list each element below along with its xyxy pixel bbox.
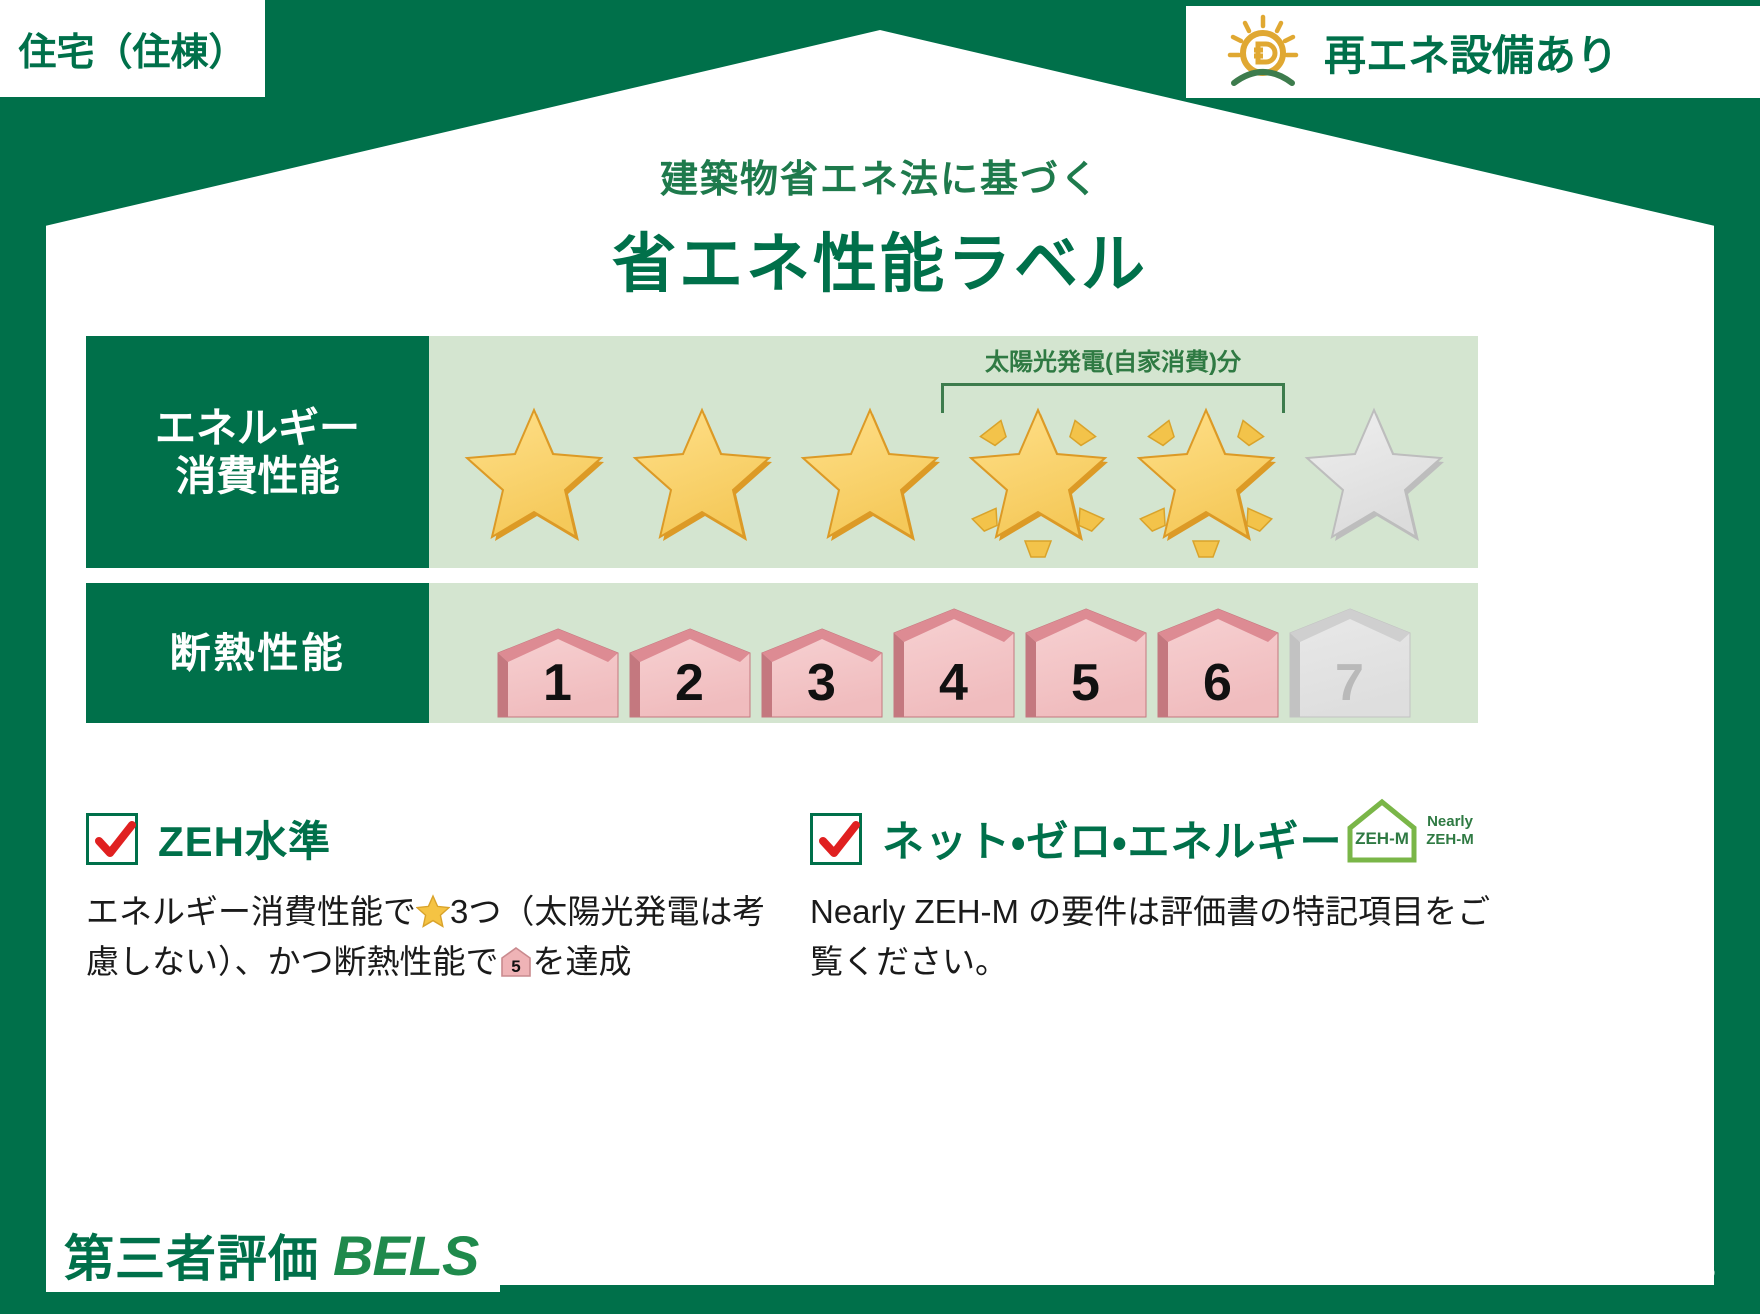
inline-house-level-icon: 5 [499,943,533,977]
insulation-level-number: 4 [890,653,1018,713]
star-empty [1293,400,1455,562]
star-filled-solar [957,400,1119,562]
energy-rating-panel: 太陽光発電(自家消費)分 [429,336,1478,568]
zeh-desc-part1: エネルギー消費性能で [86,893,416,930]
zeh-m-logo-icon: ZEH-M Nearly ZEH-M [1342,794,1488,868]
certificate-id: b55e5f3e-b1a1-4416 [1351,1258,1716,1284]
insulation-block-filled: 5 [1022,607,1150,719]
checkmark-icon [93,818,137,864]
insulation-level-blocks: 1 2 [429,591,1478,719]
nze-check-head: ネット・ゼロ・エネルギー ZEH-M Nearly ZEH-M [810,808,1510,869]
insulation-level-number: 5 [1022,653,1150,713]
net-zero-energy-section: ネット・ゼロ・エネルギー ZEH-M Nearly ZEH-M Nearly Z… [810,808,1510,986]
star-filled-solar [1125,400,1287,562]
svg-text:ZEH-M: ZEH-M [1426,831,1474,848]
label-subtitle: 建築物省エネ法に基づく [0,148,1760,203]
insulation-level-number: 3 [758,653,886,713]
bels-footer-badge: 第三者評価 BELS [46,1218,500,1292]
zeh-checkbox[interactable] [86,813,138,865]
insulation-row-label: 断熱性能 [86,583,429,723]
footer-meta: 評価日 2025年8月7日 b55e5f3e-b1a1-4416 [1351,1197,1716,1284]
bels-logo-text: BELS [333,1223,478,1288]
page-title: 省エネ性能ラベル [0,213,1760,305]
insulation-level-number: 7 [1286,653,1414,713]
zeh-standard-section: ZEH水準 エネルギー消費性能で 3つ（太陽光発電は考慮しない）、かつ断熱性能で… [86,808,786,986]
insulation-block-empty: 7 [1286,607,1414,719]
star-filled [453,400,615,562]
insulation-block-filled: 3 [758,627,886,719]
building-name: Lichtgranz本郷町 [598,1223,887,1278]
badge-dwelling-type: 住宅（住棟） [0,0,265,97]
energy-row-label-line2: 消費性能 [176,452,340,500]
insulation-performance-row: 断熱性能 1 [86,583,1478,723]
bels-energy-label: 住宅（住棟） 再エネ設備あり 建築物省エネ法に基づく [0,0,1760,1314]
title-block: 建築物省エネ法に基づく 省エネ性能ラベル [0,148,1760,305]
third-party-evaluation-label: 第三者評価 [64,1219,319,1291]
checkmark-icon [817,818,861,864]
solar-annotation-label: 太陽光発電(自家消費)分 [941,342,1285,377]
zeh-check-head: ZEH水準 [86,808,786,869]
insulation-level-number: 6 [1154,653,1282,713]
energy-row-label-line1: エネルギー [155,404,360,452]
inline-star-icon [416,892,450,926]
insulation-block-filled: 4 [890,607,1018,719]
svg-text:5: 5 [511,957,520,976]
evaluation-date: 評価日 2025年8月7日 [1351,1197,1716,1252]
energy-star-rating [429,390,1478,562]
nze-description: Nearly ZEH-M の要件は評価書の特記項目をご覧ください。 [810,887,1510,986]
energy-row-label: エネルギー 消費性能 [86,336,429,568]
insulation-block-filled: 1 [494,627,622,719]
insulation-rating-panel: 1 2 [429,583,1478,723]
badge-renewable-label: 再エネ設備あり [1324,22,1618,83]
insulation-level-number: 1 [494,653,622,713]
star-filled [621,400,783,562]
zeh-desc-part3: を達成 [533,943,632,980]
energy-performance-row: エネルギー 消費性能 太陽光発電(自家消費)分 [86,336,1478,568]
nze-title: ネット・ゼロ・エネルギー [882,808,1343,869]
svg-text:Nearly: Nearly [1427,813,1474,830]
svg-text:ZEH-M: ZEH-M [1355,829,1409,848]
solar-energy-icon [1220,13,1306,91]
nze-checkbox[interactable] [810,813,862,865]
insulation-block-filled: 2 [626,627,754,719]
badge-renewable-equipment: 再エネ設備あり [1186,6,1760,98]
star-filled [789,400,951,562]
zeh-description: エネルギー消費性能で 3つ（太陽光発電は考慮しない）、かつ断熱性能で 5 を達成 [86,887,786,986]
insulation-block-filled: 6 [1154,607,1282,719]
zeh-title: ZEH水準 [158,808,331,869]
badge-dwelling-label: 住宅（住棟） [18,21,246,76]
insulation-level-number: 2 [626,653,754,713]
